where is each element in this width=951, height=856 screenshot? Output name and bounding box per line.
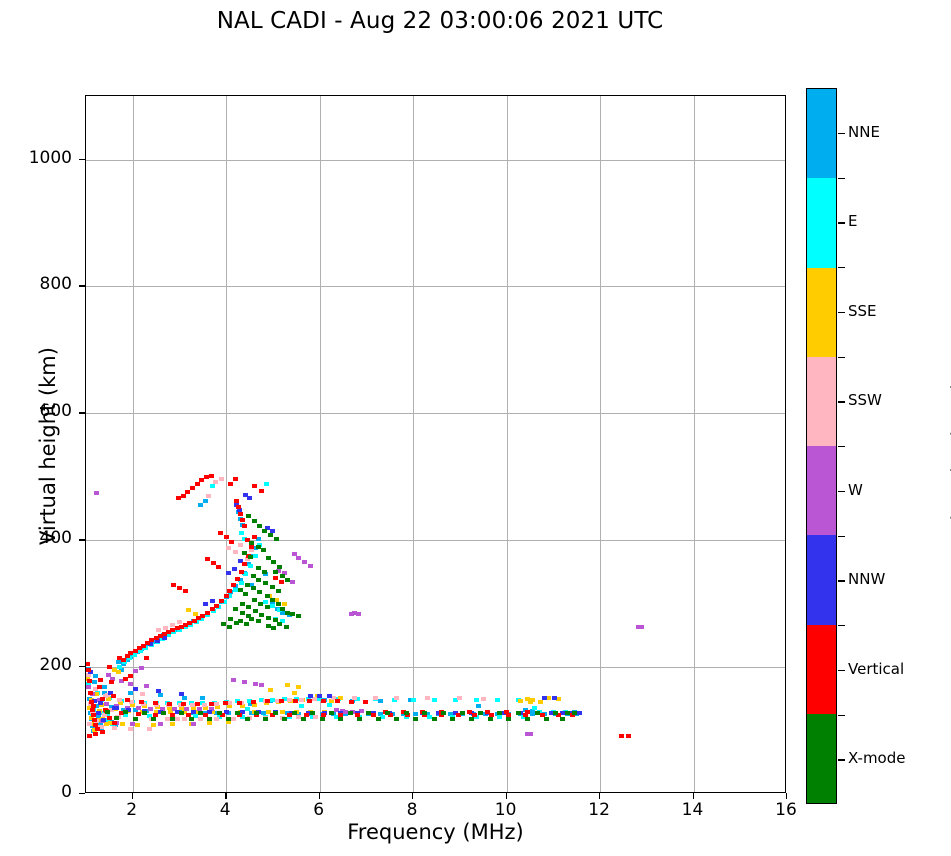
- scatter-point: [248, 564, 253, 568]
- scatter-point: [242, 680, 247, 684]
- scatter-point: [198, 503, 203, 507]
- scatter-point: [93, 732, 98, 736]
- scatter-point: [86, 685, 91, 689]
- scatter-point: [86, 668, 91, 672]
- scatter-point: [133, 687, 138, 691]
- scatter-point: [253, 609, 258, 613]
- scatter-point: [170, 717, 175, 721]
- scatter-point: [253, 682, 258, 686]
- scatter-point: [135, 723, 140, 727]
- x-tick-label: 14: [663, 800, 723, 820]
- colorbar-segment-nne: [807, 89, 836, 178]
- scatter-point: [619, 734, 624, 738]
- scatter-point: [228, 482, 233, 486]
- scatter-point: [359, 709, 364, 713]
- x-axis-label: Frequency (MHz): [85, 820, 786, 844]
- scatter-point: [144, 684, 149, 688]
- scatter-point: [252, 598, 257, 602]
- scatter-point: [299, 704, 304, 708]
- scatter-point: [85, 662, 90, 666]
- scatter-point: [176, 496, 181, 500]
- y-tick-label: 1000: [10, 148, 72, 168]
- scatter-point: [532, 706, 537, 710]
- scatter-point: [210, 484, 215, 488]
- scatter-point: [114, 716, 119, 720]
- scatter-point: [469, 717, 474, 721]
- colorbar-tick: [838, 312, 845, 313]
- y-tick-mark: [79, 412, 85, 413]
- scatter-point: [234, 621, 239, 625]
- scatter-point: [243, 592, 248, 596]
- scatter-point: [245, 717, 250, 721]
- scatter-point: [197, 707, 202, 711]
- scatter-points-layer: [86, 96, 785, 792]
- scatter-point: [198, 711, 203, 715]
- scatter-point: [100, 730, 105, 734]
- scatter-point: [91, 704, 96, 708]
- colorbar-tick: [838, 401, 845, 402]
- scatter-point: [413, 712, 418, 716]
- ionogram-figure: NAL CADI - Aug 22 03:00:06 2021 UTC 2468…: [0, 0, 951, 856]
- scatter-point: [253, 554, 258, 558]
- scatter-point: [572, 711, 577, 715]
- x-tick-mark: [599, 793, 600, 799]
- scatter-point: [156, 689, 161, 693]
- scatter-point: [544, 717, 549, 721]
- colorbar-tick: [838, 133, 845, 134]
- scatter-point: [249, 541, 254, 545]
- scatter-point: [231, 583, 236, 587]
- scatter-point: [198, 717, 203, 721]
- scatter-point: [296, 685, 301, 689]
- scatter-point: [112, 721, 117, 725]
- scatter-point: [376, 717, 381, 721]
- scatter-point: [279, 580, 284, 584]
- scatter-point: [273, 711, 278, 715]
- scatter-point: [546, 696, 551, 700]
- scatter-point: [404, 711, 409, 715]
- scatter-point: [175, 717, 180, 721]
- scatter-point: [92, 718, 97, 722]
- scatter-point: [497, 711, 502, 715]
- scatter-point: [270, 604, 275, 608]
- scatter-point: [262, 570, 267, 574]
- scatter-point: [190, 486, 195, 490]
- colorbar-tick: [838, 222, 845, 223]
- scatter-point: [432, 717, 437, 721]
- scatter-point: [270, 598, 275, 602]
- scatter-point: [102, 685, 107, 689]
- scatter-point: [96, 711, 101, 715]
- scatter-point: [277, 565, 282, 569]
- scatter-point: [378, 699, 383, 703]
- scatter-point: [214, 702, 219, 706]
- scatter-point: [117, 698, 122, 702]
- scatter-point: [528, 700, 533, 704]
- scatter-point: [227, 625, 232, 629]
- scatter-point: [195, 482, 200, 486]
- scatter-point: [231, 678, 236, 682]
- x-tick-mark: [693, 793, 694, 799]
- scatter-point: [257, 590, 262, 594]
- scatter-point: [247, 496, 252, 500]
- colorbar-segment-ssw: [807, 357, 836, 446]
- x-tick-mark: [225, 793, 226, 799]
- scatter-point: [238, 588, 243, 592]
- scatter-point: [234, 499, 239, 503]
- scatter-point: [259, 613, 264, 617]
- scatter-point: [242, 551, 247, 555]
- scatter-point: [485, 710, 490, 714]
- scatter-point: [441, 711, 446, 715]
- scatter-point: [240, 602, 245, 606]
- scatter-point: [128, 691, 133, 695]
- scatter-point: [98, 701, 103, 705]
- plot-area: [85, 95, 786, 793]
- scatter-point: [238, 543, 243, 547]
- scatter-point: [161, 711, 166, 715]
- scatter-point: [565, 711, 570, 715]
- scatter-point: [329, 711, 334, 715]
- scatter-point: [276, 602, 281, 606]
- scatter-point: [244, 622, 249, 626]
- scatter-point: [202, 703, 207, 707]
- scatter-point: [142, 711, 147, 715]
- scatter-point: [262, 529, 267, 533]
- scatter-point: [235, 577, 240, 581]
- scatter-point: [301, 717, 306, 721]
- scatter-point: [111, 694, 116, 698]
- scatter-point: [109, 680, 114, 684]
- scatter-point: [290, 612, 295, 616]
- scatter-point: [133, 669, 138, 673]
- colorbar-segment-vertical: [807, 625, 836, 714]
- scatter-point: [87, 722, 92, 726]
- x-tick-label: 8: [382, 800, 442, 820]
- scatter-point: [117, 665, 122, 669]
- scatter-point: [246, 605, 251, 609]
- scatter-point: [273, 576, 278, 580]
- scatter-point: [352, 611, 357, 615]
- scatter-point: [144, 656, 149, 660]
- scatter-point: [261, 548, 266, 552]
- scatter-point: [308, 564, 313, 568]
- y-tick-mark: [79, 539, 85, 540]
- scatter-point: [206, 494, 211, 498]
- scatter-point: [219, 599, 224, 603]
- scatter-point: [254, 711, 259, 715]
- scatter-point: [100, 697, 105, 701]
- scatter-point: [252, 484, 257, 488]
- scatter-point: [256, 566, 261, 570]
- scatter-point: [227, 589, 232, 593]
- scatter-point: [265, 605, 270, 609]
- scatter-point: [292, 691, 297, 695]
- scatter-point: [307, 699, 312, 703]
- colorbar-segment-w: [807, 446, 836, 535]
- scatter-point: [97, 685, 102, 689]
- y-tick-label: 0: [10, 782, 72, 802]
- scatter-point: [352, 696, 357, 700]
- scatter-point: [226, 546, 231, 550]
- scatter-point: [256, 545, 261, 549]
- scatter-point: [478, 711, 483, 715]
- scatter-point: [216, 565, 221, 569]
- colorbar-tick: [838, 491, 845, 492]
- scatter-point: [214, 604, 219, 608]
- scatter-point: [518, 699, 523, 703]
- x-tick-label: 10: [476, 800, 536, 820]
- scatter-point: [259, 683, 264, 687]
- scatter-point: [195, 702, 200, 706]
- scatter-point: [474, 698, 479, 702]
- x-tick-mark: [319, 793, 320, 799]
- scatter-point: [151, 723, 156, 727]
- colorbar-label-x-mode: X-mode: [848, 749, 905, 767]
- x-tick-mark: [506, 793, 507, 799]
- scatter-point: [91, 713, 96, 717]
- scatter-point: [181, 494, 186, 498]
- colorbar-boundary-tick: [838, 178, 845, 179]
- x-tick-mark: [412, 793, 413, 799]
- scatter-point: [163, 626, 168, 630]
- scatter-point: [170, 722, 175, 726]
- scatter-point: [87, 679, 92, 683]
- scatter-point: [252, 519, 257, 523]
- scatter-point: [284, 625, 289, 629]
- scatter-point: [171, 583, 176, 587]
- scatter-point: [285, 683, 290, 687]
- scatter-point: [182, 717, 187, 721]
- colorbar-label-vertical: Vertical: [848, 660, 904, 678]
- scatter-point: [112, 706, 117, 710]
- scatter-point: [560, 717, 565, 721]
- scatter-point: [394, 717, 399, 721]
- scatter-point: [226, 720, 231, 724]
- scatter-point: [240, 518, 245, 522]
- scatter-point: [248, 555, 253, 559]
- scatter-point: [233, 607, 238, 611]
- scatter-point: [422, 711, 427, 715]
- scatter-point: [191, 722, 196, 726]
- scatter-point: [263, 581, 268, 585]
- scatter-point: [271, 560, 276, 564]
- scatter-point: [450, 717, 455, 721]
- scatter-point: [219, 477, 224, 481]
- scatter-point: [357, 717, 362, 721]
- x-tick-mark: [786, 793, 787, 799]
- y-axis-label: Virtual height (km): [36, 246, 60, 646]
- scatter-point: [101, 718, 106, 722]
- scatter-point: [123, 710, 128, 714]
- scatter-point: [432, 698, 437, 702]
- scatter-point: [105, 710, 110, 714]
- scatter-point: [264, 482, 269, 486]
- scatter-point: [327, 694, 332, 698]
- y-tick-mark: [79, 666, 85, 667]
- scatter-point: [285, 578, 290, 582]
- scatter-point: [373, 696, 378, 700]
- scatter-point: [542, 696, 547, 700]
- page-title: NAL CADI - Aug 22 03:00:06 2021 UTC: [0, 8, 880, 34]
- scatter-point: [205, 557, 210, 561]
- scatter-point: [139, 700, 144, 704]
- scatter-point: [245, 707, 250, 711]
- scatter-point: [210, 607, 215, 611]
- scatter-point: [239, 570, 244, 574]
- colorbar: [806, 88, 837, 804]
- scatter-point: [209, 474, 214, 478]
- scatter-point: [242, 524, 247, 528]
- colorbar-boundary-tick: [838, 357, 845, 358]
- scatter-point: [273, 570, 278, 574]
- colorbar-label-ssw: SSW: [848, 391, 882, 409]
- scatter-point: [460, 711, 465, 715]
- colorbar-label-sse: SSE: [848, 302, 877, 320]
- scatter-point: [231, 717, 236, 721]
- scatter-point: [257, 524, 262, 528]
- scatter-point: [184, 707, 189, 711]
- scatter-point: [280, 607, 285, 611]
- scatter-point: [107, 665, 112, 669]
- y-tick-mark: [79, 159, 85, 160]
- scatter-point: [153, 701, 158, 705]
- scatter-point: [128, 674, 133, 678]
- scatter-point: [221, 622, 226, 626]
- scatter-point: [177, 586, 182, 590]
- scatter-point: [112, 726, 117, 730]
- colorbar-label-nne: NNE: [848, 123, 880, 141]
- scatter-point: [265, 699, 270, 703]
- scatter-point: [182, 696, 187, 700]
- scatter-point: [639, 625, 644, 629]
- scatter-point: [129, 700, 134, 704]
- scatter-point: [302, 560, 307, 564]
- x-tick-label: 6: [289, 800, 349, 820]
- scatter-point: [413, 717, 418, 721]
- scatter-point: [263, 717, 268, 721]
- scatter-point: [525, 717, 530, 721]
- scatter-point: [179, 692, 184, 696]
- scatter-point: [136, 706, 141, 710]
- scatter-point: [223, 701, 228, 705]
- scatter-point: [280, 710, 285, 714]
- scatter-point: [116, 670, 121, 674]
- colorbar-segment-sse: [807, 268, 836, 357]
- scatter-point: [296, 614, 301, 618]
- scatter-point: [243, 572, 248, 576]
- x-tick-label: 12: [569, 800, 629, 820]
- scatter-point: [203, 499, 208, 503]
- colorbar-label-w: W: [848, 481, 863, 499]
- scatter-point: [148, 707, 153, 711]
- x-tick-label: 4: [195, 800, 255, 820]
- colorbar-boundary-tick: [838, 446, 845, 447]
- scatter-point: [467, 710, 472, 714]
- scatter-point: [335, 699, 340, 703]
- scatter-point: [525, 710, 530, 714]
- scatter-point: [274, 537, 279, 541]
- scatter-point: [185, 490, 190, 494]
- x-tick-mark: [132, 793, 133, 799]
- colorbar-segment-nnw: [807, 535, 836, 624]
- scatter-point: [338, 717, 343, 721]
- scatter-point: [553, 711, 558, 715]
- scatter-point: [181, 702, 186, 706]
- scatter-point: [140, 692, 145, 696]
- scatter-point: [259, 489, 264, 493]
- scatter-point: [125, 698, 130, 702]
- scatter-point: [313, 715, 318, 719]
- scatter-point: [256, 578, 261, 582]
- colorbar-tick: [838, 759, 845, 760]
- colorbar-tick: [838, 580, 845, 581]
- colorbar-boundary-tick: [838, 267, 845, 268]
- scatter-point: [139, 666, 144, 670]
- scatter-point: [226, 717, 231, 721]
- scatter-point: [348, 711, 353, 715]
- scatter-point: [189, 717, 194, 721]
- scatter-point: [282, 717, 287, 721]
- scatter-point: [282, 602, 287, 606]
- scatter-point: [504, 710, 509, 714]
- y-tick-label: 200: [10, 655, 72, 675]
- scatter-point: [299, 698, 304, 702]
- scatter-point: [156, 628, 161, 632]
- scatter-point: [179, 711, 184, 715]
- scatter-point: [245, 583, 250, 587]
- scatter-point: [528, 732, 533, 736]
- scatter-point: [317, 694, 322, 698]
- scatter-point: [296, 556, 301, 560]
- scatter-point: [266, 556, 271, 560]
- scatter-point: [167, 702, 172, 706]
- scatter-point: [320, 717, 325, 721]
- scatter-point: [516, 711, 521, 715]
- scatter-point: [151, 717, 156, 721]
- scatter-point: [207, 717, 212, 721]
- scatter-point: [251, 586, 256, 590]
- scatter-point: [266, 624, 271, 628]
- colorbar-tick: [838, 670, 845, 671]
- scatter-point: [265, 594, 270, 598]
- scatter-point: [210, 599, 215, 603]
- scatter-point: [258, 602, 263, 606]
- scatter-point: [218, 531, 223, 535]
- colorbar-segment-x-mode: [807, 714, 836, 803]
- scatter-point: [287, 698, 292, 702]
- scatter-point: [292, 552, 297, 556]
- scatter-point: [552, 696, 557, 700]
- scatter-point: [128, 682, 133, 686]
- scatter-point: [251, 700, 256, 704]
- scatter-point: [235, 711, 240, 715]
- scatter-point: [136, 712, 141, 716]
- scatter-point: [411, 698, 416, 702]
- scatter-point: [385, 711, 390, 715]
- scatter-point: [535, 711, 540, 715]
- scatter-point: [249, 617, 254, 621]
- scatter-point: [270, 585, 275, 589]
- scatter-point: [256, 537, 261, 541]
- scatter-point: [366, 711, 371, 715]
- scatter-point: [240, 611, 245, 615]
- scatter-point: [236, 505, 241, 509]
- scatter-point: [98, 678, 103, 682]
- scatter-point: [239, 581, 244, 585]
- scatter-point: [183, 589, 188, 593]
- scatter-point: [321, 699, 326, 703]
